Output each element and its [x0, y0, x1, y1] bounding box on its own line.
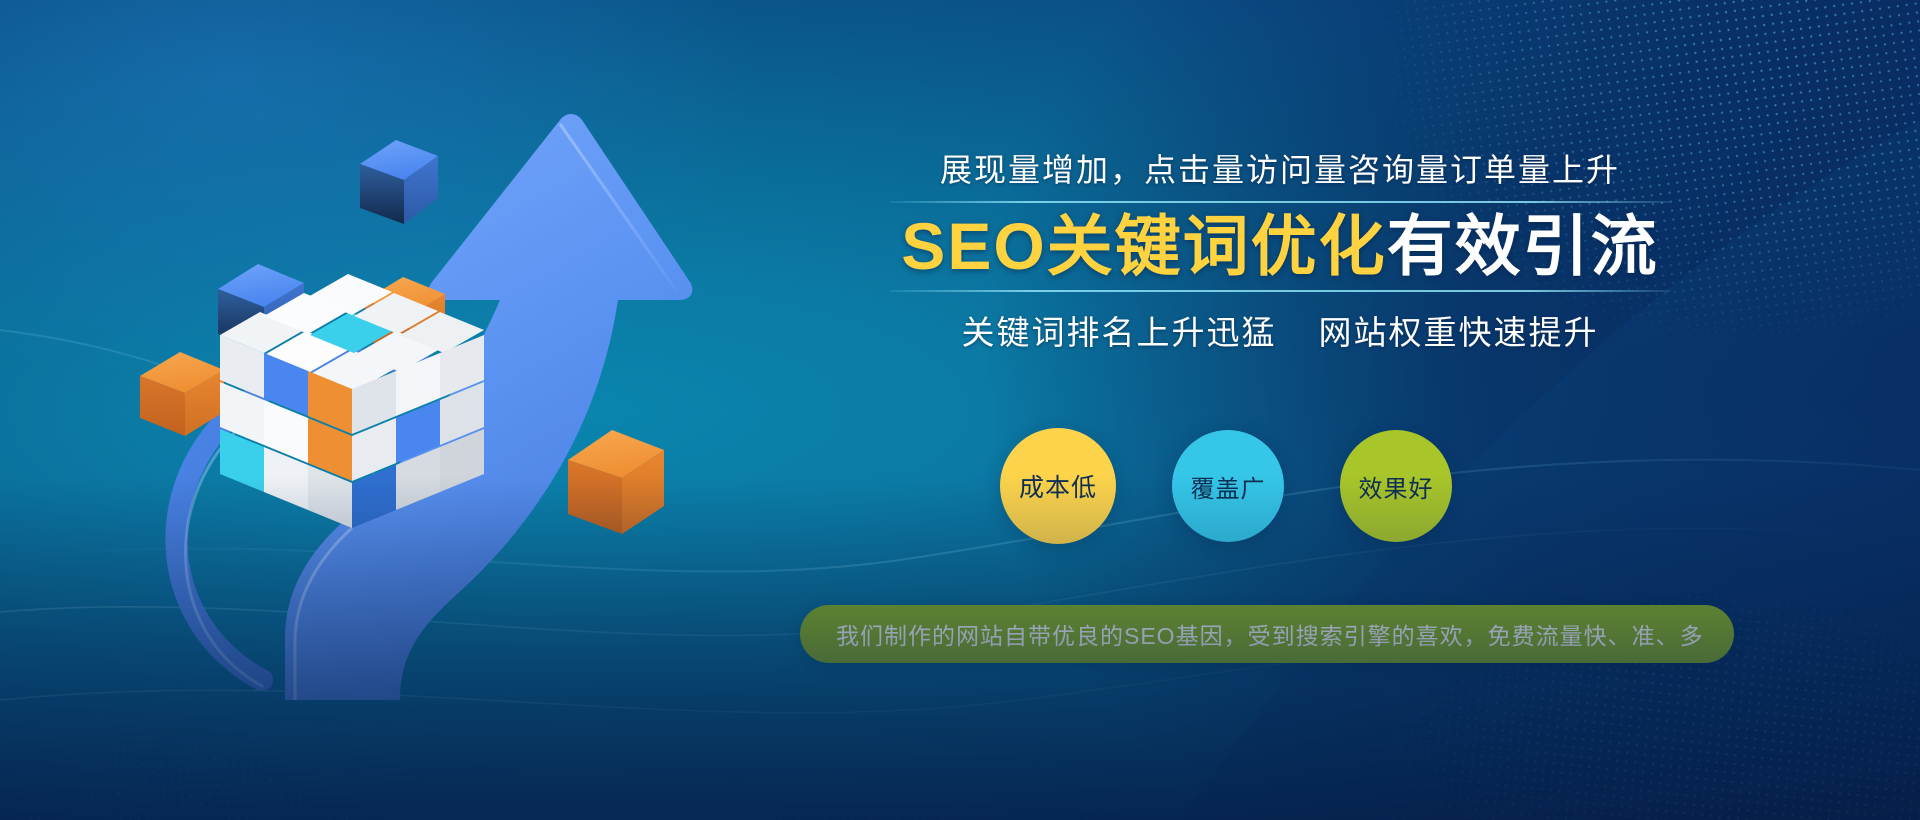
headline-sub-right: 网站权重快速提升: [1319, 314, 1599, 351]
headline-main-highlight: SEO关键词优化: [901, 209, 1386, 283]
headline-main-rest: 有效引流: [1387, 209, 1659, 283]
background-bottom-shade: [0, 476, 1920, 820]
headline-top: 展现量增加，点击量访问量咨询量订单量上升: [880, 150, 1680, 190]
headline-main: SEO关键词优化有效引流: [880, 211, 1680, 282]
divider-top: [890, 201, 1670, 203]
headline-sub: 关键词排名上升迅猛网站权重快速提升: [880, 306, 1680, 354]
headline-sub-left: 关键词排名上升迅猛: [962, 314, 1277, 351]
divider-bottom: [890, 290, 1670, 292]
seo-promo-banner: 展现量增加，点击量访问量咨询量订单量上升 SEO关键词优化有效引流 关键词排名上…: [0, 0, 1920, 820]
headline-block: 展现量增加，点击量访问量咨询量订单量上升 SEO关键词优化有效引流 关键词排名上…: [880, 150, 1680, 354]
